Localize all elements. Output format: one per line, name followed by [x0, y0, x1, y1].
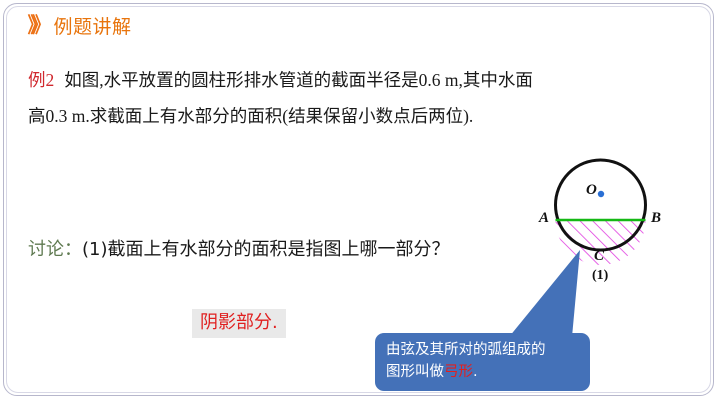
- chevrons-right-icon: 》》: [28, 15, 46, 36]
- callout-line-2: 图形叫做弓形.: [386, 361, 580, 383]
- slide-canvas: 》》 例题讲解 例2如图,水平放置的圆柱形排水管道的截面半径是0.6 m,其中水…: [0, 0, 720, 405]
- header-divider: [18, 44, 702, 45]
- circle-diagram: [536, 152, 686, 292]
- problem-statement: 例2如图,水平放置的圆柱形排水管道的截面半径是0.6 m,其中水面 高0.3 m…: [28, 62, 698, 134]
- problem-line-1: 如图,水平放置的圆柱形排水管道的截面半径是0.6 m,其中水面: [64, 70, 533, 90]
- circle-diagram-svg: [536, 152, 686, 292]
- label-point-c: C: [594, 248, 604, 265]
- callout-line-2-pre: 图形叫做: [386, 364, 444, 380]
- problem-number: 例2: [28, 70, 54, 90]
- center-point-o: [598, 191, 604, 197]
- shaded-segment: [551, 216, 651, 276]
- label-point-b: B: [651, 210, 661, 227]
- label-center-o: O: [586, 182, 597, 199]
- definition-callout: 由弦及其所对的弧组成的 图形叫做弓形.: [375, 333, 590, 391]
- label-point-a: A: [539, 210, 549, 227]
- callout-term-highlight: 弓形: [444, 364, 473, 380]
- problem-line-2: 高0.3 m.求截面上有水部分的面积(结果保留小数点后两位).: [28, 106, 473, 126]
- discussion-question: (1)截面上有水部分的面积是指图上哪一部分？: [82, 239, 450, 260]
- figure-caption: (1): [592, 268, 608, 284]
- discussion-label: 讨论：: [28, 239, 82, 260]
- callout-line-1: 由弦及其所对的弧组成的: [386, 339, 580, 361]
- section-header: 》》 例题讲解: [26, 12, 132, 39]
- callout-line-2-post: .: [473, 364, 478, 380]
- page-title: 例题讲解: [54, 12, 132, 39]
- answer-highlight: 阴影部分.: [192, 309, 286, 338]
- discussion-line: 讨论：(1)截面上有水部分的面积是指图上哪一部分？: [28, 237, 450, 263]
